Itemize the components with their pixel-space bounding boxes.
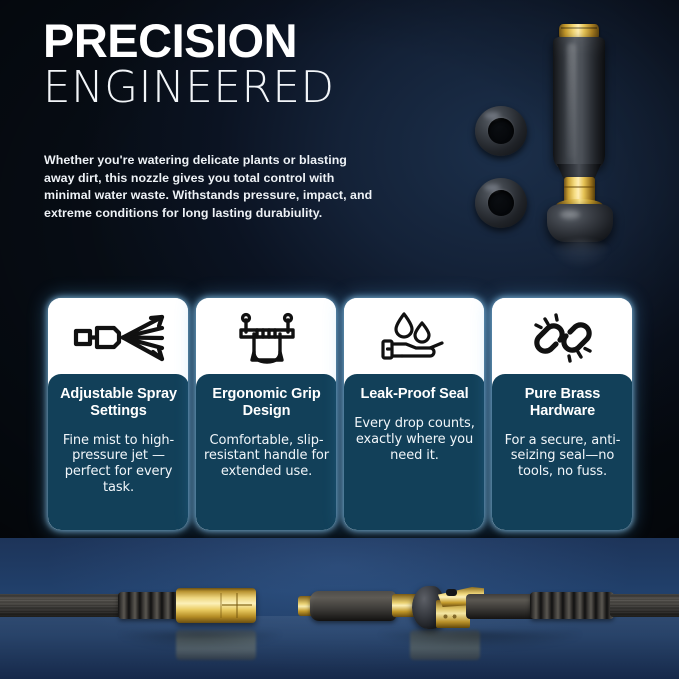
feature-card-description: Fine mist to high-pressure jet — perfect… xyxy=(55,433,182,496)
feature-card-description: Every drop counts, exactly where you nee… xyxy=(351,416,478,464)
washer-highlight xyxy=(484,184,500,191)
product-photo xyxy=(455,8,679,270)
nozzle-base xyxy=(547,204,613,242)
feature-card-list: Adjustable Spray Settings Fine mist to h… xyxy=(48,298,632,530)
page-title: PRECISION ENGINEERED xyxy=(43,18,443,110)
nozzle-release-button xyxy=(446,589,457,596)
rubber-washer-upper xyxy=(475,106,527,156)
nozzle-rubber-grip xyxy=(310,591,396,621)
feature-card-title: Leak-Proof Seal xyxy=(351,386,478,403)
chain-link-icon xyxy=(492,298,632,378)
feature-card-body: Pure Brass Hardware For a secure, anti-s… xyxy=(492,374,632,530)
hose-tube-mid xyxy=(466,594,538,619)
washer-inner-hole xyxy=(488,118,514,144)
feature-card-description: Comfortable, slip-resistant handle for e… xyxy=(203,433,330,481)
hose-assembly xyxy=(0,584,679,632)
rubber-washer-lower xyxy=(475,178,527,228)
spray-nozzle-icon xyxy=(48,298,188,378)
bottom-product-band xyxy=(0,538,679,679)
nozzle-black-barrel xyxy=(553,37,605,169)
hose-shadow-left xyxy=(120,632,280,648)
washer-inner-hole xyxy=(488,190,514,216)
hose-strain-relief-left xyxy=(118,592,180,619)
feature-card-body: Adjustable Spray Settings Fine mist to h… xyxy=(48,374,188,530)
brass-nozzle-assembly xyxy=(296,584,536,632)
intro-paragraph: Whether you're watering delicate plants … xyxy=(44,152,374,222)
feature-card-title: Ergonomic Grip Design xyxy=(203,386,330,420)
headline-line-1: PRECISION xyxy=(43,18,443,64)
nozzle-reflection xyxy=(550,240,612,268)
feature-card-body: Ergonomic Grip Design Comfortable, slip-… xyxy=(196,374,336,530)
headline-line-2: ENGINEERED xyxy=(43,66,439,111)
feature-card[interactable]: Adjustable Spray Settings Fine mist to h… xyxy=(48,298,188,530)
hose-shadow-right xyxy=(380,632,580,648)
nozzle-product xyxy=(548,24,612,242)
feature-card-description: For a secure, anti-seizing seal—no tools… xyxy=(499,433,626,481)
feature-card[interactable]: Ergonomic Grip Design Comfortable, slip-… xyxy=(196,298,336,530)
feature-card[interactable]: Pure Brass Hardware For a secure, anti-s… xyxy=(492,298,632,530)
hose-strain-relief-right xyxy=(530,592,614,619)
feature-card-body: Leak-Proof Seal Every drop counts, exact… xyxy=(344,374,484,530)
hand-grip-icon xyxy=(196,298,336,378)
feature-card-title: Pure Brass Hardware xyxy=(499,386,626,420)
washer-highlight xyxy=(484,112,500,119)
product-infographic: PRECISION ENGINEERED Whether you're wate… xyxy=(0,0,679,679)
feature-card[interactable]: Leak-Proof Seal Every drop counts, exact… xyxy=(344,298,484,530)
hose-braided-right xyxy=(610,594,679,617)
brass-quick-connector xyxy=(176,588,256,623)
water-drop-hand-icon xyxy=(344,298,484,378)
feature-card-title: Adjustable Spray Settings xyxy=(55,386,182,420)
